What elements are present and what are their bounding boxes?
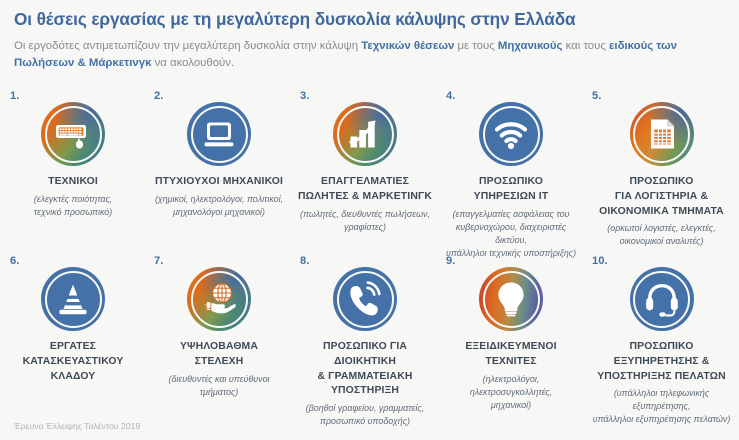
keyboard-mouse-icon	[53, 114, 93, 154]
item-detail: (ελεγκτές ποιότητας, τεχνικό προσωπικό)	[28, 193, 119, 219]
item-detail: (πωλητές, διευθυντές πωλήσεων, γραφίστες…	[294, 208, 436, 234]
infographic-root: Οι θέσεις εργασίας με τη μεγαλύτερη δυσκ…	[0, 0, 739, 440]
lightbulb-icon	[491, 279, 531, 319]
rank-number: 1.	[10, 90, 19, 102]
badge-9	[479, 267, 543, 331]
item-detail: (χημικοί, ηλεκτρολόγοι, πολιτικοί, μηχαν…	[149, 193, 289, 219]
ranking-row-1: 1.	[0, 88, 739, 253]
ranking-item-5[interactable]: 5.	[584, 88, 739, 253]
rank-number: 8.	[300, 255, 309, 267]
subtitle: Οι εργοδότες αντιμετωπίζουν την μεγαλύτε…	[14, 38, 714, 73]
item-label: ΠΡΟΣΩΠΙΚΟ ΓΙΑ ΔΙΟΙΚΗΤΙΚΗ & ΓΡΑΜΜΑΤΕΙΑΚΗ …	[292, 340, 438, 399]
globe-in-hand-icon	[199, 279, 239, 319]
item-detail: (επαγγελματίες ασφάλειας του κυβερνοχώρο…	[438, 208, 584, 260]
rank-number: 5.	[592, 90, 601, 102]
subtitle-text: με τους	[454, 40, 498, 52]
badge-10	[630, 267, 694, 331]
header: Οι θέσεις εργασίας με τη μεγαλύτερη δυσκ…	[0, 0, 739, 72]
item-label: ΠΡΟΣΩΠΙΚΟ ΥΠΗΡΕΣΙΩΝ IT	[470, 175, 553, 205]
wifi-icon	[491, 114, 531, 154]
subtitle-text: Οι εργοδότες αντιμετωπίζουν την μεγαλύτε…	[14, 40, 361, 52]
laptop-icon	[199, 114, 239, 154]
bar-chart-growth-icon	[345, 114, 385, 154]
ranking-item-1[interactable]: 1.	[0, 88, 146, 253]
item-label: ΕΞΕΙΔΙΚΕΥΜΕΝΟΙ ΤΕΧΝΙΤΕΣ	[461, 340, 560, 370]
rank-number: 9.	[446, 255, 455, 267]
traffic-cone-icon	[53, 279, 93, 319]
rank-number: 10.	[592, 255, 608, 267]
badge-8	[333, 267, 397, 331]
ranking-item-6[interactable]: 6. ΕΡΓΑΤΕΣ ΚΑΤΑΣΚΕΥΑΣΤΙΚΟΥ ΚΛΑΔΟΥ	[0, 253, 146, 416]
badge-2	[187, 102, 251, 166]
badge-6	[41, 267, 105, 331]
ranking-item-10[interactable]: 10. ΠΡΟΣΩΠΙΚΟ ΕΞΥΠΗΡΕΤΗΣΗΣ & ΥΠΟΣΤΗΡΙΞΗΣ…	[584, 253, 739, 416]
ranking-item-9[interactable]: 9. ΕΞΕΙΔΙΚΕΥΜΕΝΟΙ ΤΕΧΝΙΤΕΣ	[438, 253, 584, 416]
ranking-row-2: 6. ΕΡΓΑΤΕΣ ΚΑΤΑΣΚΕΥΑΣΤΙΚΟΥ ΚΛΑΔΟΥ	[0, 253, 739, 416]
item-label: ΠΡΟΣΩΠΙΚΟ ΓΙΑ ΛΟΓΙΣΤΗΡΙΑ & ΟΙΚΟΝΟΜΙΚΑ ΤΜ…	[595, 175, 728, 219]
badge-5	[630, 102, 694, 166]
item-label: ΥΨΗΛΟΒΑΘΜΑ ΣΤΕΛΕΧΗ	[176, 340, 262, 370]
ranking-grid: 1.	[0, 88, 739, 416]
item-detail: (ηλεκτρολόγοι, ηλεκτροσυγκολλητές, μηχαν…	[464, 373, 558, 412]
item-label: ΤΕΧΝΙΚΟΙ	[44, 175, 102, 190]
item-detail: (διευθυντές και υπεύθυνοι τμήματος)	[146, 373, 292, 399]
item-detail: (ορκωτοί λογιστές, ελεγκτές, οικονομικοί…	[601, 222, 721, 248]
subtitle-highlight: Τεχνικών θέσεων	[361, 40, 454, 52]
badge-1	[41, 102, 105, 166]
badge-3	[333, 102, 397, 166]
rank-number: 4.	[446, 90, 455, 102]
subtitle-highlight: Μηχανικούς	[498, 40, 563, 52]
source-note: Έρευνα Έλλειψης Ταλέντου 2019	[14, 421, 140, 431]
ranking-item-8[interactable]: 8. ΠΡΟΣΩΠΙΚΟ ΓΙΑ ΔΙΟΙΚΗΤΙΚΗ & ΓΡΑΜΜΑΤΕΙΑ…	[292, 253, 438, 416]
badge-4	[479, 102, 543, 166]
ranking-item-7[interactable]: 7.	[146, 253, 292, 416]
item-label: ΠΡΟΣΩΠΙΚΟ ΕΞΥΠΗΡΕΤΗΣΗΣ & ΥΠΟΣΤΗΡΙΞΗΣ ΠΕΛ…	[593, 340, 730, 384]
ranking-item-2[interactable]: 2. ΠΤΥΧΙΟΥΧΟΙ ΜΗΧΑΝΙΚΟΙ (χημικοί, ηλεκτρ…	[146, 88, 292, 253]
spreadsheet-document-icon	[642, 114, 682, 154]
badge-7	[187, 267, 251, 331]
page-title: Οι θέσεις εργασίας με τη μεγαλύτερη δυσκ…	[14, 9, 725, 31]
rank-number: 3.	[300, 90, 309, 102]
item-label: ΕΡΓΑΤΕΣ ΚΑΤΑΣΚΕΥΑΣΤΙΚΟΥ ΚΛΑΔΟΥ	[19, 340, 128, 384]
subtitle-text: και τους	[562, 40, 609, 52]
item-detail: (υπάλληλοι τηλεφωνικής εξυπηρέτησης, υπά…	[584, 387, 739, 426]
rank-number: 6.	[10, 255, 19, 267]
ranking-item-3[interactable]: 3. ΕΠΑΓΓΕΛΜΑΤΙΕΣ ΠΩΛΗΤΕΣ & ΜΑΡΚΕΤΙΝΓΚ (π…	[292, 88, 438, 253]
ringing-phone-icon	[345, 279, 385, 319]
subtitle-text: να ακολουθούν.	[151, 57, 234, 69]
headset-icon	[642, 279, 682, 319]
ranking-item-4[interactable]: 4. ΠΡΟΣΩΠΙΚΟ ΥΠΗΡΕΣΙΩΝ IT (επαγγελματίες…	[438, 88, 584, 253]
rank-number: 2.	[154, 90, 163, 102]
item-label: ΕΠΑΓΓΕΛΜΑΤΙΕΣ ΠΩΛΗΤΕΣ & ΜΑΡΚΕΤΙΝΓΚ	[294, 175, 436, 205]
rank-number: 7.	[154, 255, 163, 267]
item-label: ΠΤΥΧΙΟΥΧΟΙ ΜΗΧΑΝΙΚΟΙ	[151, 175, 287, 190]
item-detail: (βοηθοί γραφείου, γραμματείς, προσωπικό …	[300, 402, 430, 428]
